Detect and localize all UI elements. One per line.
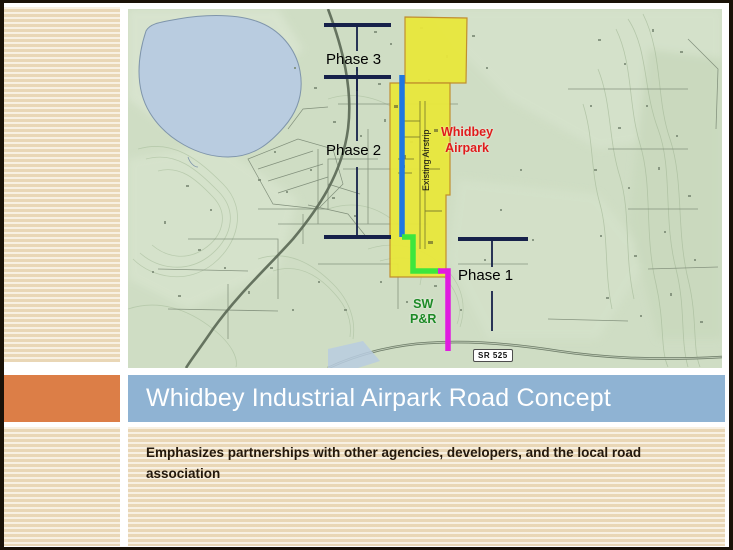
left-sidebar-upper: [4, 7, 120, 362]
airpark-label-line1: Whidbey: [441, 125, 493, 139]
accent-block: [4, 375, 120, 422]
map-label-phase-3: Phase 3: [326, 51, 381, 68]
map-label-park-and-ride: SW P&R: [410, 297, 436, 327]
map-label-phase-2: Phase 2: [326, 142, 381, 159]
slide-body-panel: Emphasizes partnerships with other agenc…: [128, 427, 725, 546]
map-image: Phase 3 Phase 2 Phase 1 Whidbey Airpark …: [128, 9, 722, 368]
slide-body-text: Emphasizes partnerships with other agenc…: [146, 443, 686, 485]
page-title: Whidbey Industrial Airpark Road Concept: [128, 384, 611, 413]
pnr-label-line2: P&R: [410, 312, 436, 326]
airpark-label-line2: Airpark: [445, 141, 489, 155]
slide: Phase 3 Phase 2 Phase 1 Whidbey Airpark …: [0, 0, 733, 550]
map-label-existing-airstrip: Existing Airstrip: [421, 129, 431, 191]
pnr-label-line1: SW: [413, 297, 433, 311]
map-label-sr-525: SR 525: [473, 349, 513, 362]
slide-right-border: [729, 3, 733, 547]
map-label-phase-1: Phase 1: [458, 267, 513, 284]
slide-title-bar: Whidbey Industrial Airpark Road Concept: [128, 375, 725, 422]
map-label-whidbey-airpark: Whidbey Airpark: [441, 125, 493, 156]
left-sidebar-lower: [4, 427, 120, 546]
